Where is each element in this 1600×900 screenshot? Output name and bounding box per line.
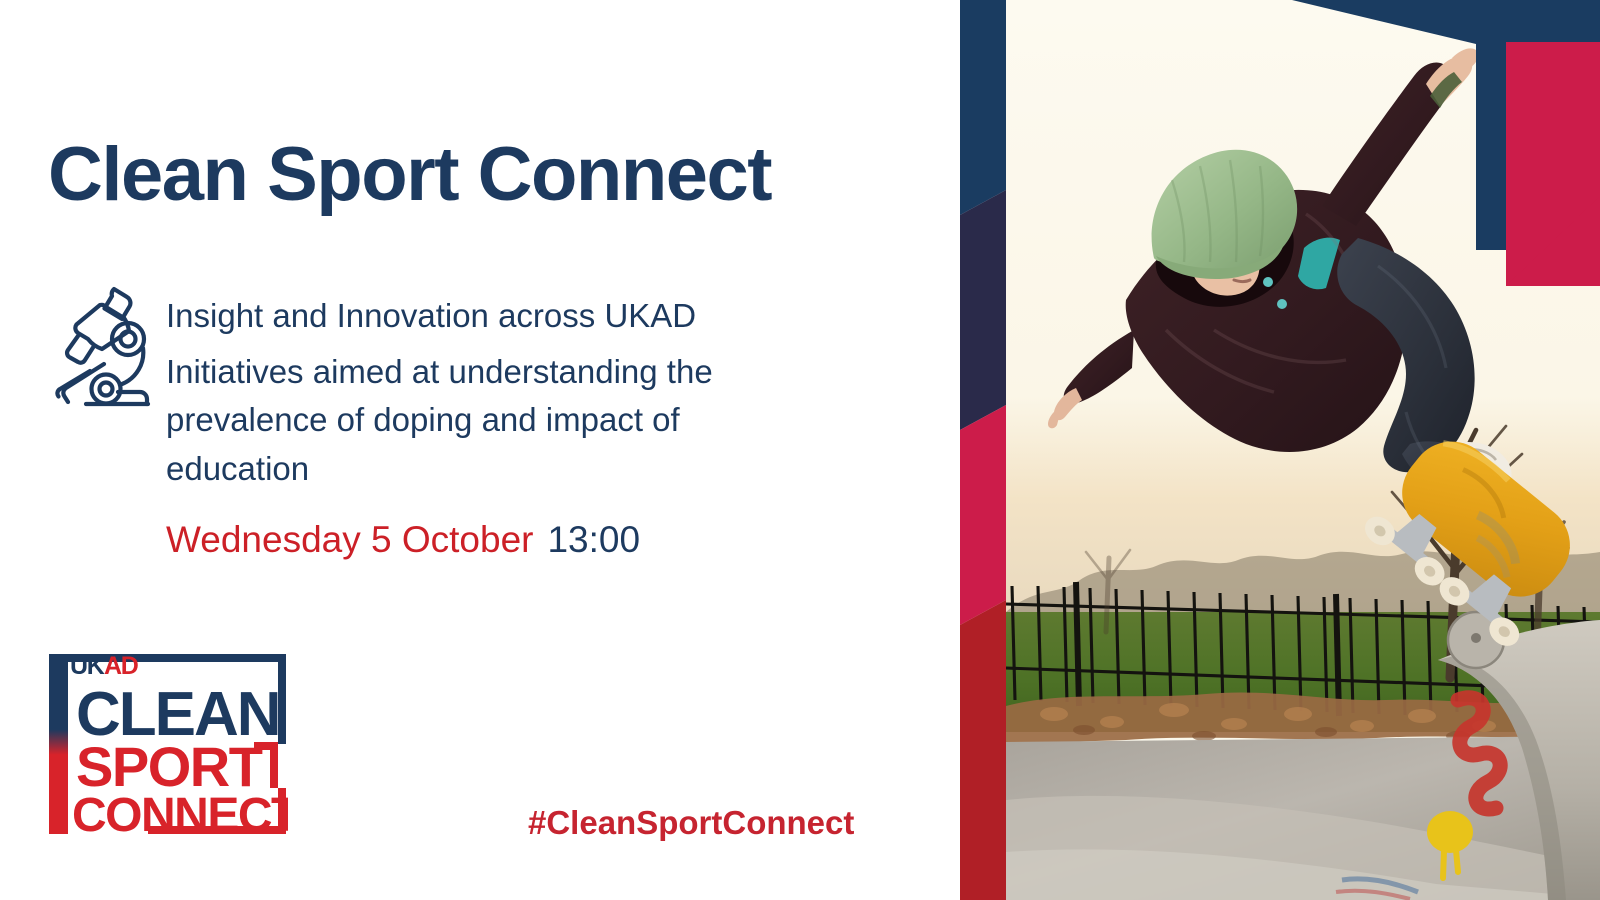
logo-brand-uk: UK [70, 652, 105, 680]
stripe-dark-red [960, 600, 1006, 900]
ukad-logo: UK AD CLEAN SPORT CONNECT [48, 641, 288, 837]
skateboarder-photo [1006, 0, 1600, 900]
yellow-paint-blob [1427, 811, 1473, 853]
event-datetime: Wednesday 5 October13:00 [166, 518, 640, 562]
page-title: Clean Sport Connect [48, 133, 771, 217]
event-time: 13:00 [547, 519, 640, 560]
stripe-navy [960, 0, 1006, 215]
event-date: Wednesday 5 October [166, 519, 533, 560]
snap-button-2 [1277, 299, 1287, 309]
stripe-crimson [960, 405, 1006, 625]
microscope-icon [44, 276, 164, 412]
logo-brand-ad: AD [104, 652, 138, 680]
left-content-panel: Clean Sport Connect [0, 0, 960, 900]
description-text: Initiatives aimed at understanding the p… [166, 348, 806, 494]
decorative-stripe [960, 0, 1006, 900]
lede-text: Insight and Innovation across UKAD [166, 294, 866, 338]
snap-button-1 [1263, 277, 1273, 287]
stripe-dark-navy [960, 190, 1006, 430]
photo-panel [960, 0, 1600, 900]
body-text-block: Insight and Innovation across UKAD Initi… [166, 294, 866, 493]
promo-card: Clean Sport Connect [0, 0, 1600, 900]
logo-line-connect: CONNECT [72, 789, 288, 837]
hashtag: #CleanSportConnect [528, 804, 854, 842]
